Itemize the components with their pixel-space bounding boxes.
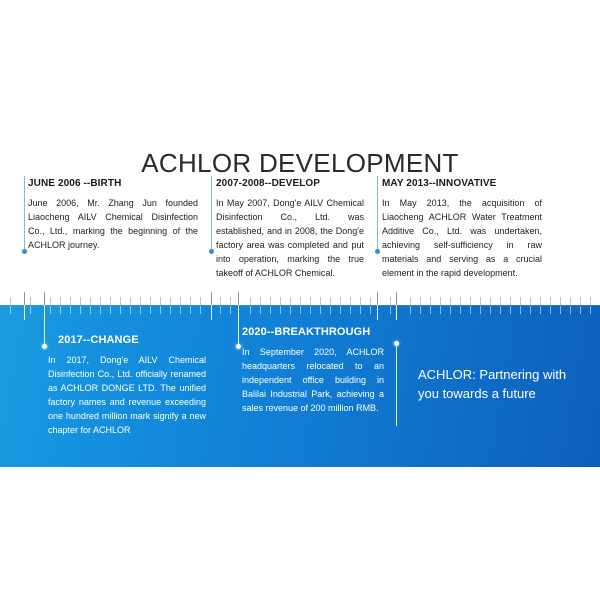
tick-mark (520, 306, 521, 314)
tick-mark (370, 306, 371, 314)
tick-mark (560, 297, 561, 305)
tick-mark (390, 297, 391, 305)
tick-mark (230, 297, 231, 305)
tick-mark (110, 297, 111, 305)
tick-mark-major (396, 305, 397, 320)
tick-mark-major (238, 292, 239, 305)
tick-mark (270, 297, 271, 305)
tick-mark (460, 306, 461, 314)
connector-line-milestone-3 (377, 176, 378, 252)
tick-mark (260, 306, 261, 314)
tick-mark (250, 297, 251, 305)
connector-line-milestone-2 (211, 176, 212, 252)
tick-mark (540, 297, 541, 305)
tick-mark (280, 297, 281, 305)
tick-mark (330, 306, 331, 314)
tick-mark (160, 306, 161, 314)
tick-mark-major (211, 305, 212, 320)
tick-mark (130, 297, 131, 305)
tick-mark (370, 297, 371, 305)
tick-mark (140, 306, 141, 314)
connector-line-milestone-1 (24, 176, 25, 252)
tick-mark-major (377, 305, 378, 320)
tick-mark (490, 297, 491, 305)
tick-mark (90, 306, 91, 314)
tick-mark (530, 306, 531, 314)
tick-mark (560, 306, 561, 314)
tick-mark (340, 297, 341, 305)
tick-mark (350, 306, 351, 314)
tick-mark (190, 306, 191, 314)
tick-mark (300, 306, 301, 314)
tick-mark-major (24, 292, 25, 305)
tick-mark (470, 297, 471, 305)
tick-mark (120, 306, 121, 314)
tick-mark (100, 297, 101, 305)
tick-mark (100, 306, 101, 314)
tick-mark (180, 297, 181, 305)
tick-mark (80, 297, 81, 305)
tick-mark (590, 297, 591, 305)
tick-mark (230, 306, 231, 314)
tick-mark (540, 306, 541, 314)
tick-mark-major (396, 292, 397, 305)
tick-mark (290, 297, 291, 305)
tick-mark (440, 306, 441, 314)
tick-mark (10, 306, 11, 314)
tick-mark (160, 297, 161, 305)
tick-mark (480, 297, 481, 305)
tick-mark (60, 297, 61, 305)
milestone-heading: 2007-2008--DEVELOP (216, 178, 364, 189)
tick-mark (220, 306, 221, 314)
tick-mark (580, 306, 581, 314)
milestone-heading: 2020--BREAKTHROUGH (242, 326, 384, 338)
tick-mark-major (44, 292, 45, 305)
tick-mark (320, 306, 321, 314)
tick-mark (320, 297, 321, 305)
tick-mark (300, 297, 301, 305)
tick-mark (530, 297, 531, 305)
tick-mark (170, 306, 171, 314)
tick-mark (80, 306, 81, 314)
tick-mark (30, 306, 31, 314)
tick-mark (310, 306, 311, 314)
tick-mark (450, 297, 451, 305)
tick-mark (340, 306, 341, 314)
connector-dot-milestone-2 (209, 249, 214, 254)
tick-mark (480, 306, 481, 314)
tick-mark (570, 306, 571, 314)
tick-mark (200, 297, 201, 305)
tick-mark (190, 297, 191, 305)
connector-line-milestone-4 (44, 313, 45, 347)
milestone-card-2: 2007-2008--DEVELOP In May 2007, Dong'e A… (216, 178, 364, 281)
tick-mark (430, 297, 431, 305)
tick-mark (360, 297, 361, 305)
connector-line-tagline (396, 344, 397, 426)
tick-mark (280, 306, 281, 314)
connector-dot-milestone-3 (375, 249, 380, 254)
milestone-body: In September 2020, ACHLOR headquarters r… (242, 346, 384, 416)
tick-mark (140, 297, 141, 305)
tick-mark (390, 306, 391, 314)
connector-line-milestone-5 (238, 313, 239, 347)
tick-mark (90, 297, 91, 305)
tick-mark (150, 297, 151, 305)
tick-mark (410, 297, 411, 305)
tick-mark (310, 297, 311, 305)
milestone-body: In May 2013, the acquisition of Liaochen… (382, 197, 542, 281)
tick-mark (290, 306, 291, 314)
page-title: ACHLOR DEVELOPMENT (0, 148, 600, 179)
tick-mark (510, 297, 511, 305)
tick-mark (60, 306, 61, 314)
tick-mark (570, 297, 571, 305)
tick-mark (550, 297, 551, 305)
tick-mark (580, 297, 581, 305)
closing-tagline: ACHLOR: Partnering with you towards a fu… (418, 366, 583, 404)
timeline-axis (0, 292, 600, 320)
tick-mark (150, 306, 151, 314)
tick-mark (550, 306, 551, 314)
tick-mark (500, 297, 501, 305)
tick-mark (50, 306, 51, 314)
tick-mark (470, 306, 471, 314)
milestone-heading: 2017--CHANGE (58, 334, 206, 346)
milestone-card-5: 2020--BREAKTHROUGH In September 2020, AC… (242, 326, 384, 416)
tick-mark (130, 306, 131, 314)
tick-mark (420, 306, 421, 314)
tick-mark (450, 306, 451, 314)
tick-mark (180, 306, 181, 314)
tick-mark (50, 297, 51, 305)
tick-mark (490, 306, 491, 314)
tick-mark (220, 297, 221, 305)
connector-dot-milestone-4 (42, 344, 47, 349)
tick-mark (460, 297, 461, 305)
tick-mark (410, 306, 411, 314)
tick-mark (30, 297, 31, 305)
tick-mark-major (211, 292, 212, 305)
milestone-heading: JUNE 2006 --BIRTH (28, 178, 198, 189)
milestone-heading: MAY 2013--INNOVATIVE (382, 178, 542, 189)
tick-mark (120, 297, 121, 305)
tick-mark (70, 306, 71, 314)
tick-mark (590, 306, 591, 314)
tick-mark-major (24, 305, 25, 320)
tick-mark (510, 306, 511, 314)
milestone-card-4: 2017--CHANGE In 2017, Dong'e AILV Chemic… (48, 334, 206, 438)
tick-mark-major (377, 292, 378, 305)
tick-mark (350, 297, 351, 305)
tick-mark (500, 306, 501, 314)
tick-mark (110, 306, 111, 314)
milestone-body: In 2017, Dong'e AILV Chemical Disinfecti… (48, 354, 206, 438)
connector-dot-milestone-1 (22, 249, 27, 254)
tick-mark (270, 306, 271, 314)
tick-mark (520, 297, 521, 305)
milestone-card-1: JUNE 2006 --BIRTH June 2006, Mr. Zhang J… (28, 178, 198, 253)
tick-mark (430, 306, 431, 314)
connector-dot-tagline (394, 341, 399, 346)
infographic-canvas: ACHLOR DEVELOPMENT JUNE 2006 --BIRTH Jun… (0, 0, 600, 600)
tick-mark (200, 306, 201, 314)
connector-dot-milestone-5 (236, 344, 241, 349)
milestone-body: In May 2007, Dong'e AILV Chemical Disinf… (216, 197, 364, 281)
tick-mark (420, 297, 421, 305)
tick-mark (440, 297, 441, 305)
tick-mark (250, 306, 251, 314)
tick-mark (70, 297, 71, 305)
tick-mark (10, 297, 11, 305)
tick-mark (360, 306, 361, 314)
milestone-body: June 2006, Mr. Zhang Jun founded Liaoche… (28, 197, 198, 253)
tick-mark (330, 297, 331, 305)
milestone-card-3: MAY 2013--INNOVATIVE In May 2013, the ac… (382, 178, 542, 281)
tick-mark (260, 297, 261, 305)
tick-mark (170, 297, 171, 305)
